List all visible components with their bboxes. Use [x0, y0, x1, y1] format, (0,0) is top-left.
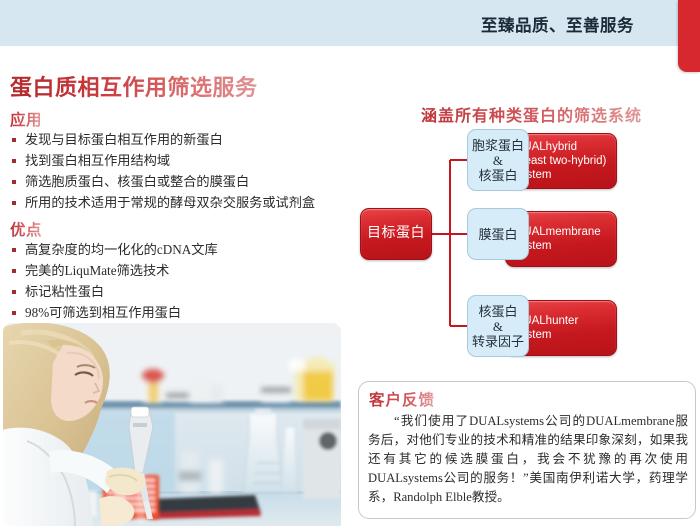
diagram-title: 涵盖所有种类蛋白的筛选系统 [404, 102, 659, 126]
list-item: 高复杂度的均一化化的cDNA文库 [10, 241, 218, 259]
diagram-node-membrane-protein[interactable]: 膜蛋白 [467, 208, 529, 260]
list-item: 找到蛋白相互作用结构域 [10, 152, 315, 170]
header-tagline: 至臻品质、至善服务 [481, 12, 634, 36]
diagram-node-nuclear-transcription-factor[interactable]: 核蛋白 & 转录因子 [467, 295, 529, 357]
diagram-node-label-line3: 转录因子 [472, 334, 524, 349]
feedback-quote: “我们使用了DUALsystems公司的DUALmembrane服务后，对他们专… [368, 412, 688, 507]
section-heading-advantages: 优点 [10, 218, 42, 240]
diagram-node-label: 目标蛋白 [367, 227, 425, 241]
applications-list: 发现与目标蛋白相互作用的新蛋白 找到蛋白相互作用结构域 筛选胞质蛋白、核蛋白或整… [10, 131, 315, 215]
page-title: 蛋白质相互作用筛选服务 [10, 70, 258, 102]
lab-photo-illustration [3, 323, 341, 526]
feedback-title: 客户反馈 [369, 388, 435, 410]
list-item: 发现与目标蛋白相互作用的新蛋白 [10, 131, 315, 149]
diagram-node-label-line1: 胞浆蛋白 [472, 138, 524, 153]
diagram-node-label-line2: & [472, 319, 524, 334]
screening-system-diagram: 目标蛋白 胞浆蛋白 & 核蛋白 DUALhybrid (yeast two-hy… [360, 125, 700, 375]
section-heading-applications: 应用 [10, 108, 42, 130]
list-item: 标记粘性蛋白 [10, 283, 218, 301]
list-item: 完美的LiquMate筛选技术 [10, 262, 218, 280]
diagram-node-label-line1: 膜蛋白 [478, 227, 517, 242]
customer-feedback-box: 客户反馈 “我们使用了DUALsystems公司的DUALmembrane服务后… [358, 381, 696, 519]
page-root: 至臻品质、至善服务 蛋白质相互作用筛选服务 应用 发现与目标蛋白相互作用的新蛋白… [0, 0, 700, 526]
lab-photo [3, 323, 341, 526]
diagram-node-label-line1: 核蛋白 [472, 304, 524, 319]
list-item: 所用的技术适用于常规的酵母双杂交服务或试剂盒 [10, 194, 315, 212]
advantages-list: 高复杂度的均一化化的cDNA文库 完美的LiquMate筛选技术 标记粘性蛋白 … [10, 241, 218, 325]
diagram-node-cytoplasmic-nuclear[interactable]: 胞浆蛋白 & 核蛋白 [467, 129, 529, 191]
list-item: 98%可筛选到相互作用蛋白 [10, 304, 218, 322]
diagram-node-target-protein[interactable]: 目标蛋白 [360, 208, 432, 260]
header-red-tab [678, 0, 700, 72]
diagram-node-label-line2: & [472, 153, 524, 168]
diagram-node-label-line3: 核蛋白 [472, 168, 524, 183]
list-item: 筛选胞质蛋白、核蛋白或整合的膜蛋白 [10, 173, 315, 191]
